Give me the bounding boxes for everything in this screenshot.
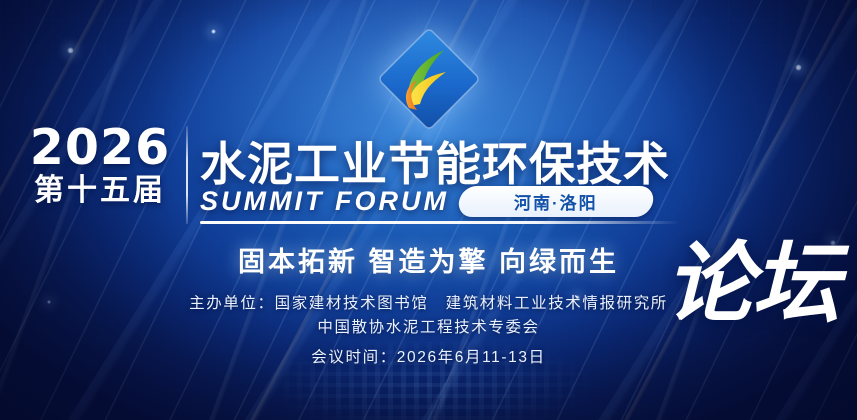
location-text: 河南·洛阳 <box>514 189 598 214</box>
organizer-line-2: 中国散协水泥工程技术专委会 <box>0 316 857 340</box>
summit-diamond-leaf-logo <box>370 20 488 138</box>
location-badge: 河南·洛阳 <box>457 186 656 217</box>
sparkle-dot <box>211 29 216 34</box>
subtitle-underline <box>200 221 680 224</box>
organizers-block: 主办单位：国家建材技术图书馆 建筑材料工业技术情报研究所 中国散协水泥工程技术专… <box>0 292 857 339</box>
edition-text: 第十五届 <box>24 174 176 208</box>
main-title-english: SUMMIT FORUM <box>200 186 449 217</box>
vertical-divider <box>186 126 188 224</box>
title-row: 2026 第十五届 水泥工业节能环保技术 SUMMIT FORUM 河南·洛阳 … <box>0 122 857 230</box>
sparkle-dot <box>67 47 74 54</box>
sparkle-dot <box>795 64 802 71</box>
year-text: 2026 <box>24 124 176 172</box>
organizer-line-1: 主办单位：国家建材技术图书馆 建筑材料工业技术情报研究所 <box>0 292 857 316</box>
main-title-chinese: 水泥工业节能环保技术 <box>200 128 670 194</box>
conference-poster-banner: 2026 第十五届 水泥工业节能环保技术 SUMMIT FORUM 河南·洛阳 … <box>0 0 857 420</box>
meeting-date-text: 会议时间：2026年6月11-13日 <box>0 345 857 367</box>
slogan-text: 固本拓新 智造为擎 向绿而生 <box>0 240 857 279</box>
year-edition-block: 2026 第十五届 <box>24 124 176 208</box>
subtitle-row: SUMMIT FORUM 河南·洛阳 <box>200 186 653 217</box>
